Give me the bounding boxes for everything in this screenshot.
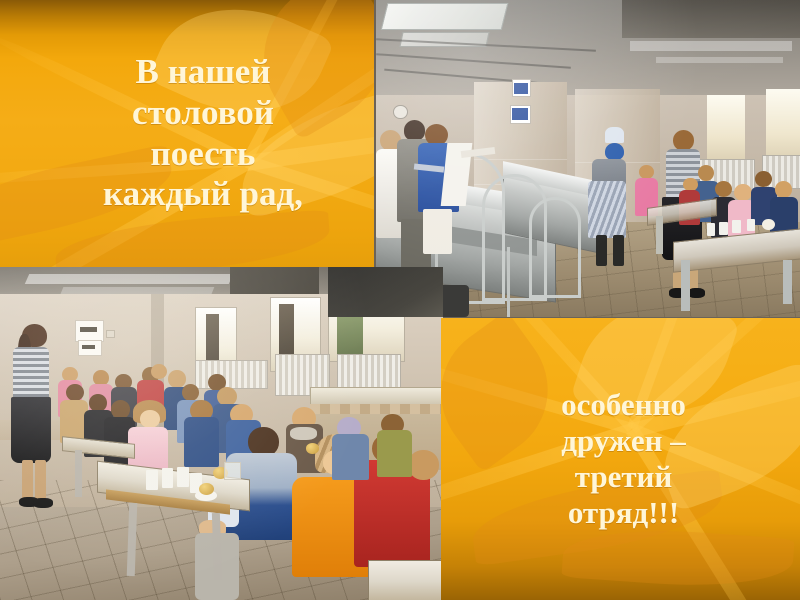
slide-canvas: В нашей столовой поесть каждый рад, особ… [0,0,800,600]
caption-panel-bottom-right: особенно дружен – третий отряд!!! [441,318,800,600]
caption-panel-top-left: В нашей столовой поесть каждый рад, [0,0,374,267]
caption-text-top: В нашей столовой поесть каждый рад, [63,52,311,214]
photo-children-at-tables [0,267,443,600]
photo-highlight-overlay [0,267,443,600]
caption-text-bottom: особенно дружен – третий отряд!!! [545,387,696,531]
